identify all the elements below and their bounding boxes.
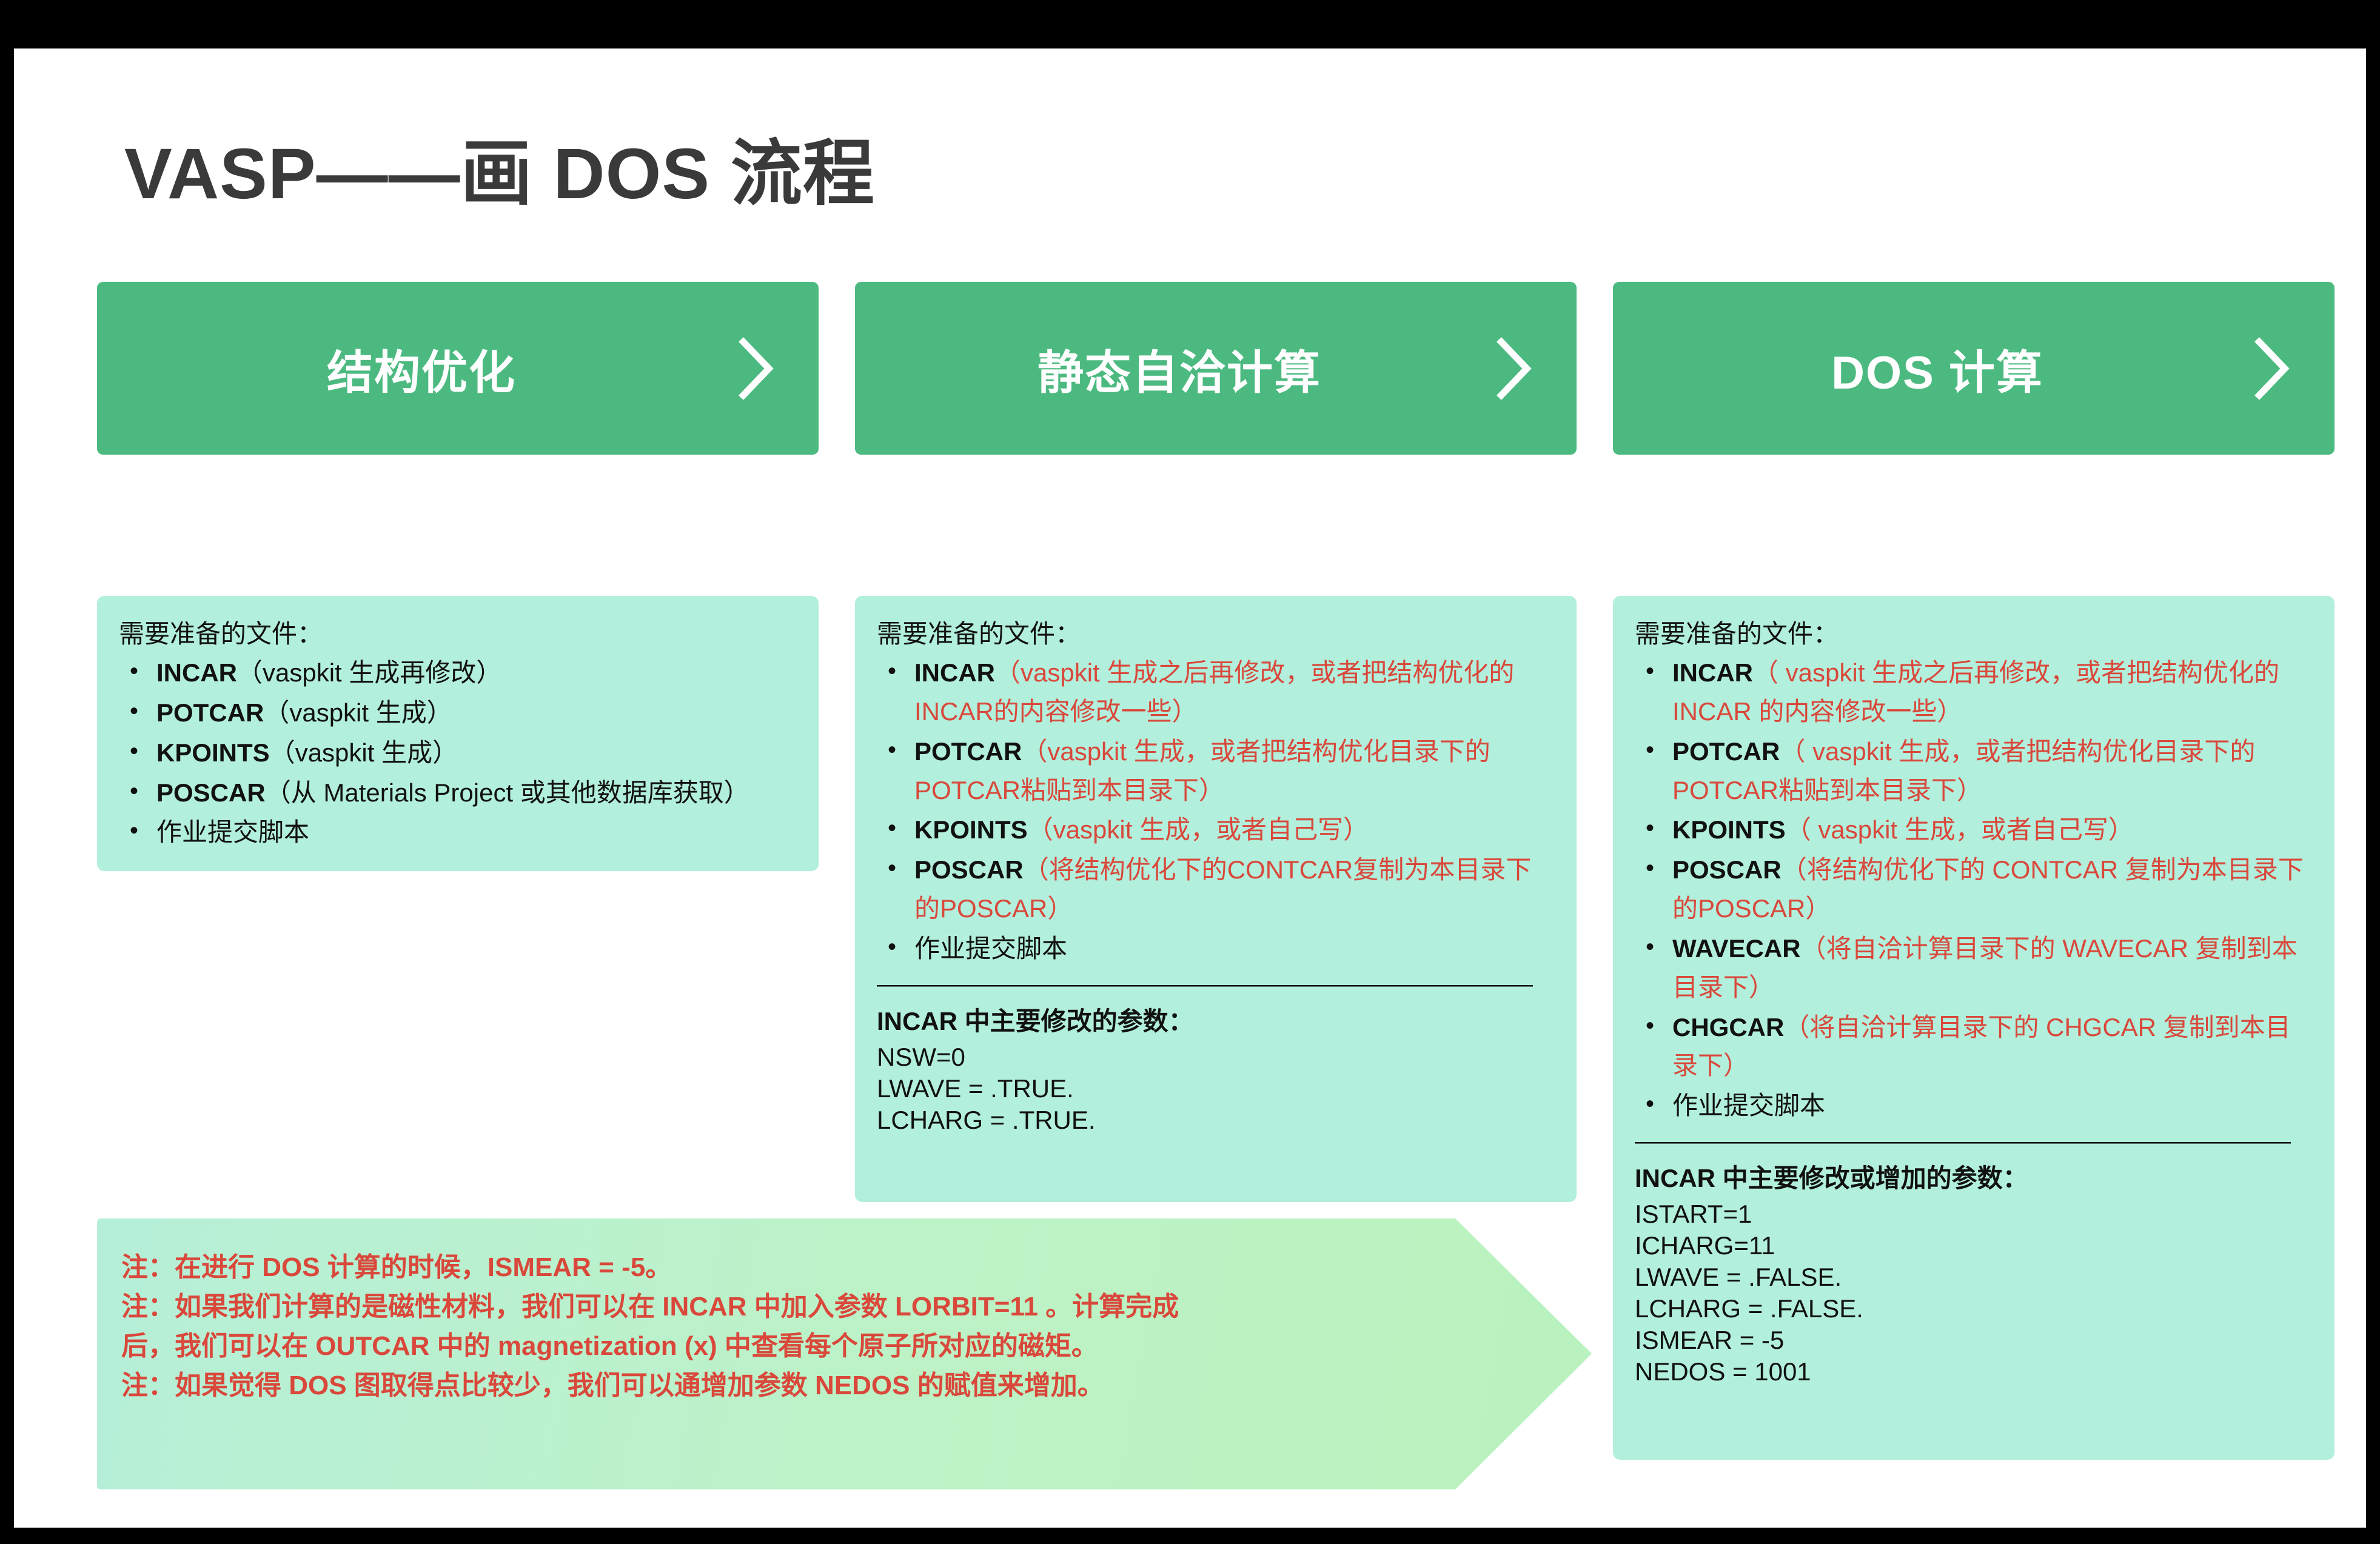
file-name: INCAR <box>1672 658 1753 687</box>
param-line: ISTART=1 <box>1635 1198 2313 1230</box>
list-item: INCAR（vaspkit 生成之后再修改，或者把结构优化的INCAR的内容修改… <box>914 653 1555 731</box>
list-item: POSCAR（从 Materials Project 或其他数据库获取） <box>156 774 797 812</box>
file-note: （从 Materials Project 或其他数据库获取） <box>266 778 749 807</box>
files-title: 需要准备的文件： <box>877 617 1555 651</box>
chevron-right-icon <box>1495 336 1532 401</box>
file-name: KPOINTS <box>156 738 270 767</box>
file-note: （vaspkit 生成） <box>264 698 452 727</box>
stage-header-label: 静态自洽计算 <box>855 335 1577 402</box>
stage-header-static-scf[interactable]: 静态自洽计算 <box>855 282 1577 455</box>
file-note: （vaspkit 生成，或者自己写） <box>1028 815 1369 844</box>
panel-static-scf: 需要准备的文件： INCAR（vaspkit 生成之后再修改，或者把结构优化的I… <box>855 596 1577 1202</box>
note-line: 注：在进行 DOS 计算的时候，ISMEAR = -5。 <box>121 1248 1425 1287</box>
list-item: KPOINTS（vaspkit 生成） <box>156 734 797 772</box>
file-name: CHGCAR <box>1672 1013 1784 1041</box>
param-line: ICHARG=11 <box>1635 1230 2313 1262</box>
file-list: INCAR（vaspkit 生成之后再修改，或者把结构优化的INCAR的内容修改… <box>877 653 1555 968</box>
chevron-right-icon <box>2253 336 2290 401</box>
stage-header-structure-optimization[interactable]: 结构优化 <box>97 282 819 455</box>
file-list: INCAR（ vaspkit 生成之后再修改，或者把结构优化的INCAR 的内容… <box>1635 653 2313 1125</box>
section-divider: —————————————————————————————— <box>877 979 1555 992</box>
list-item: CHGCAR（将自洽计算目录下的 CHGCAR 复制到本目录下） <box>1672 1008 2313 1086</box>
file-note: （vaspkit 生成之后再修改，或者把结构优化的INCAR的内容修改一些） <box>914 658 1514 726</box>
list-item: INCAR（vaspkit 生成再修改） <box>156 653 797 692</box>
note-line: 后，我们可以在 OUTCAR 中的 magnetization (x) 中查看每… <box>121 1326 1425 1366</box>
file-name: INCAR <box>914 658 995 687</box>
note-line: 注：如果觉得 DOS 图取得点比较少，我们可以通增加参数 NEDOS 的赋值来增… <box>121 1366 1425 1405</box>
panel-dos-calculation: 需要准备的文件： INCAR（ vaspkit 生成之后再修改，或者把结构优化的… <box>1613 596 2335 1460</box>
params-title: INCAR 中主要修改或增加的参数： <box>1635 1158 2313 1195</box>
file-name: POTCAR <box>1672 737 1780 766</box>
list-item: 作业提交脚本 <box>914 929 1555 968</box>
file-name: KPOINTS <box>1672 815 1786 844</box>
stage-header-label: 结构优化 <box>97 335 819 402</box>
list-item: POTCAR（vaspkit 生成） <box>156 693 797 732</box>
stage-header-label: DOS 计算 <box>1613 335 2335 402</box>
file-name: POSCAR <box>156 778 266 807</box>
param-line: LCHARG = .TRUE. <box>877 1105 1555 1136</box>
file-note: （vaspkit 生成再修改） <box>237 658 501 687</box>
notes-arrow-banner: 注：在进行 DOS 计算的时候，ISMEAR = -5。 注：如果我们计算的是磁… <box>97 1218 1592 1489</box>
file-name: POTCAR <box>914 737 1022 766</box>
param-line: NEDOS = 1001 <box>1635 1356 2313 1388</box>
note-line: 注：如果我们计算的是磁性材料，我们可以在 INCAR 中加入参数 LORBIT=… <box>121 1287 1425 1326</box>
list-item: POTCAR（ vaspkit 生成，或者把结构优化目录下的POTCAR粘贴到本… <box>1672 732 2313 810</box>
section-divider: —————————————————————————————— <box>1635 1136 2313 1149</box>
panel-structure-optimization: 需要准备的文件： INCAR（vaspkit 生成再修改） POTCAR（vas… <box>97 596 819 871</box>
param-line: ISMEAR = -5 <box>1635 1325 2313 1356</box>
file-name: 作业提交脚本 <box>1672 1091 1825 1120</box>
list-item: INCAR（ vaspkit 生成之后再修改，或者把结构优化的INCAR 的内容… <box>1672 653 2313 731</box>
file-name: 作业提交脚本 <box>156 818 309 846</box>
file-name: POTCAR <box>156 698 264 727</box>
params-title: INCAR 中主要修改的参数： <box>877 1001 1555 1038</box>
slide-canvas: VASP——画 DOS 流程 结构优化 静态自洽计算 DOS 计算 需要准备的文… <box>14 48 2366 1528</box>
file-name: 作业提交脚本 <box>914 934 1067 963</box>
file-note: （ vaspkit 生成之后再修改，或者把结构优化的INCAR 的内容修改一些） <box>1672 658 2279 726</box>
list-item: POTCAR（vaspkit 生成，或者把结构优化目录下的POTCAR粘贴到本目… <box>914 732 1555 810</box>
list-item: 作业提交脚本 <box>156 813 797 852</box>
notes-text-block: 注：在进行 DOS 计算的时候，ISMEAR = -5。 注：如果我们计算的是磁… <box>121 1248 1425 1405</box>
stage-header-dos-calculation[interactable]: DOS 计算 <box>1613 282 2335 455</box>
param-line: NSW=0 <box>877 1041 1555 1073</box>
list-item: POSCAR（将结构优化下的 CONTCAR 复制为本目录下的POSCAR） <box>1672 851 2313 928</box>
file-name: POSCAR <box>1672 855 1782 884</box>
file-list: INCAR（vaspkit 生成再修改） POTCAR（vaspkit 生成） … <box>119 653 797 852</box>
list-item: WAVECAR（将自洽计算目录下的 WAVECAR 复制到本目录下） <box>1672 929 2313 1007</box>
list-item: POSCAR（将结构优化下的CONTCAR复制为本目录下的POSCAR） <box>914 851 1555 928</box>
param-line: LWAVE = .FALSE. <box>1635 1262 2313 1293</box>
file-name: KPOINTS <box>914 815 1028 844</box>
list-item: KPOINTS（ vaspkit 生成，或者自己写） <box>1672 810 2313 849</box>
files-title: 需要准备的文件： <box>119 617 797 651</box>
param-line: LWAVE = .TRUE. <box>877 1073 1555 1105</box>
file-name: POSCAR <box>914 855 1024 884</box>
file-note: （vaspkit 生成） <box>270 738 458 767</box>
file-name: WAVECAR <box>1672 934 1801 963</box>
list-item: 作业提交脚本 <box>1672 1086 2313 1125</box>
list-item: KPOINTS（vaspkit 生成，或者自己写） <box>914 810 1555 849</box>
file-note: （ vaspkit 生成，或者自己写） <box>1786 815 2134 844</box>
param-line: LCHARG = .FALSE. <box>1635 1293 2313 1325</box>
page-title: VASP——画 DOS 流程 <box>124 115 875 219</box>
files-title: 需要准备的文件： <box>1635 617 2313 651</box>
file-name: INCAR <box>156 658 237 687</box>
chevron-right-icon <box>737 336 774 401</box>
